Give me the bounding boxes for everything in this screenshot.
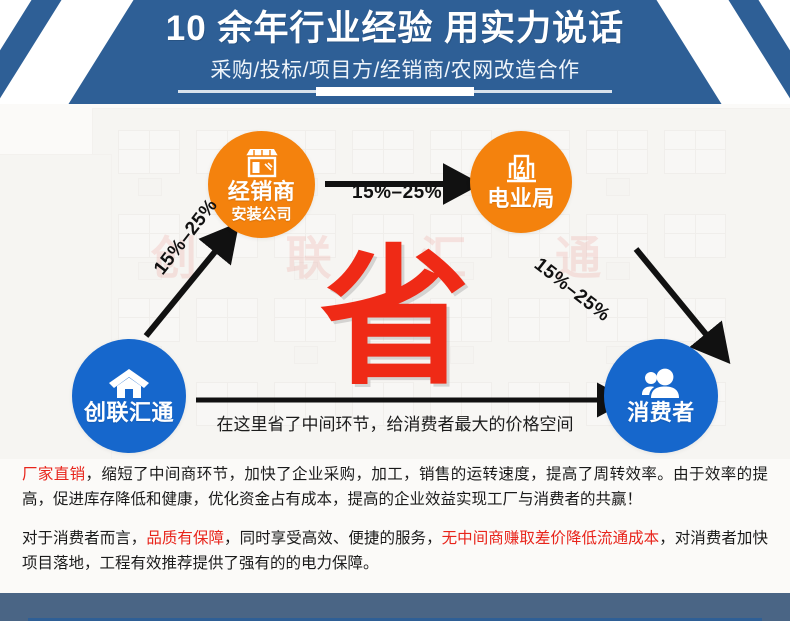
header-subtitle: 采购/投标/项目方/经销商/农网改造合作 — [0, 50, 790, 84]
header-banner: 10 余年行业经验 用实力说话 采购/投标/项目方/经销商/农网改造合作 — [0, 0, 790, 104]
users-icon — [639, 367, 683, 400]
header-divider-rule — [178, 90, 612, 93]
paragraph-one-highlight: 厂家直销 — [22, 466, 86, 483]
diagram-stage: 创 联 汇 通 省 15%–25% 15%–25% 15%–25% 在这里省了中… — [0, 104, 790, 459]
storefront-icon — [242, 145, 282, 179]
node-consumer[interactable]: 消费者 — [604, 339, 718, 453]
paragraph-one-body: ，缩短了中间商环节，加快了企业采购，加工，销售的运转速度，提高了周转效率。由于效… — [22, 466, 768, 508]
node-power-bureau[interactable]: 电业局 — [470, 131, 572, 233]
infographic-page: 10 余年行业经验 用实力说话 采购/投标/项目方/经销商/农网改造合作 — [0, 0, 790, 621]
node-brand[interactable]: 创联汇通 — [72, 339, 186, 453]
paragraph-two-highlight-nomiddleman: 无中间商赚取差价降低流通成本 — [442, 530, 660, 547]
paragraph-one: 厂家直销，缩短了中间商环节，加快了企业采购，加工，销售的运转速度，提高了周转效率… — [22, 462, 768, 512]
header-title: 10 余年行业经验 用实力说话 — [0, 0, 790, 50]
node-dealer-sublabel: 安装公司 — [231, 206, 291, 224]
header-text-group: 10 余年行业经验 用实力说话 采购/投标/项目方/经销商/农网改造合作 — [0, 0, 790, 84]
arrow-label-brand-consumer: 在这里省了中间环节，给消费者最大的价格空间 — [0, 410, 790, 435]
paragraph-two-lead: 对于消费者而言， — [22, 530, 146, 547]
footer-bar — [0, 593, 790, 621]
node-power-bureau-label: 电业局 — [487, 187, 555, 211]
paragraph-two-mid: ，同时享受高效、便捷的服务， — [224, 530, 442, 547]
house-icon — [108, 367, 150, 400]
node-dealer-label: 经销商 — [228, 180, 296, 204]
power-building-icon — [501, 152, 541, 186]
node-dealer[interactable]: 经销商 安装公司 — [208, 131, 315, 238]
description-block: 厂家直销，缩短了中间商环节，加快了企业采购，加工，销售的运转速度，提高了周转效率… — [0, 462, 790, 589]
paragraph-two: 对于消费者而言，品质有保障，同时享受高效、便捷的服务，无中间商赚取差价降低流通成… — [22, 526, 768, 576]
arrow-label-dealer-bureau: 15%–25% — [352, 182, 442, 204]
paragraph-two-highlight-quality: 品质有保障 — [146, 530, 224, 547]
